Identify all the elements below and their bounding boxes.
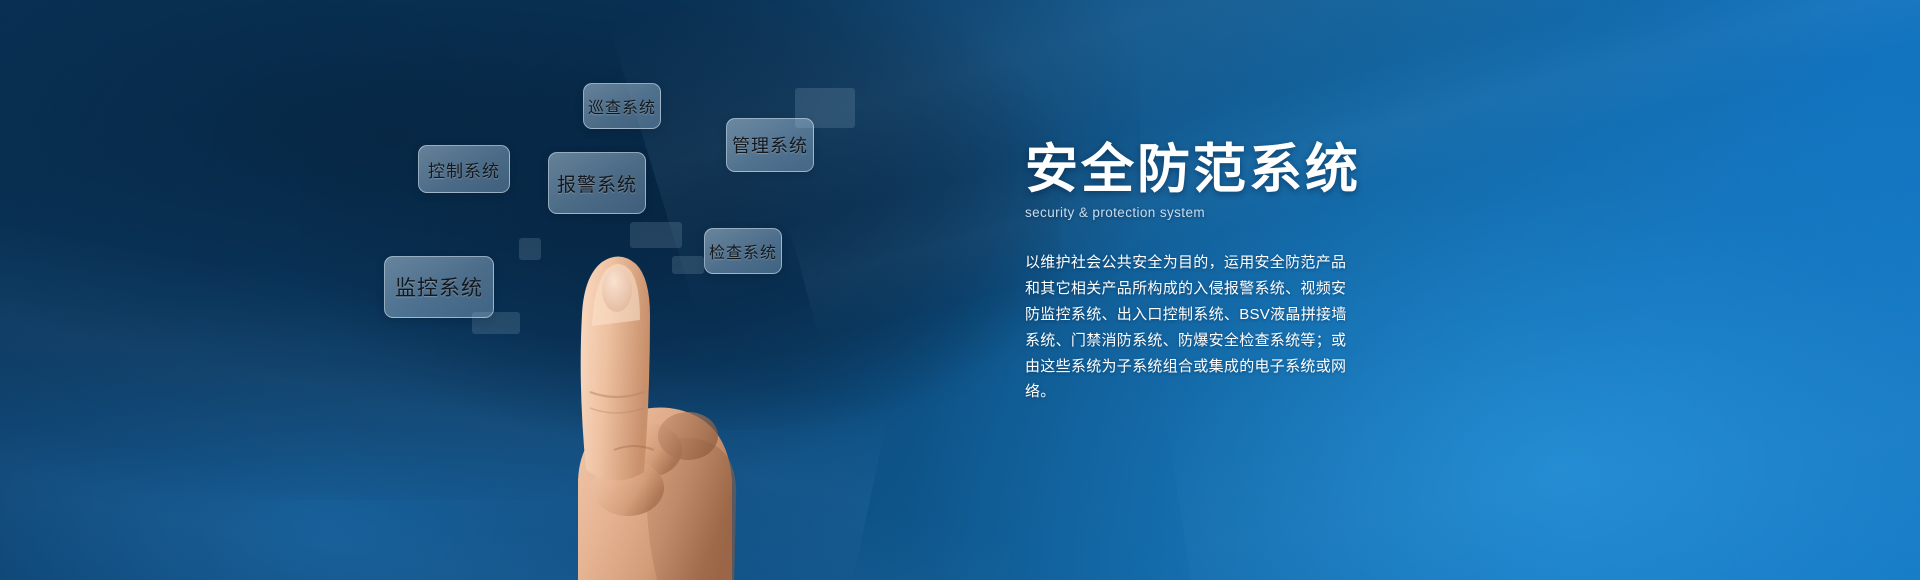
page-title: 安全防范系统 [1025, 140, 1785, 199]
background-core-shadow [300, 0, 1060, 430]
decorative-square [519, 238, 541, 260]
system-tile-label: 检查系统 [709, 239, 777, 263]
system-tile[interactable]: 控制系统 [418, 145, 510, 193]
decorative-square [630, 222, 682, 248]
system-tile-label: 监控系统 [395, 272, 483, 302]
system-tile[interactable]: 报警系统 [548, 152, 646, 214]
hero-banner: 巡查系统控制系统报警系统管理系统检查系统监控系统 [0, 0, 1920, 580]
system-tile-label: 巡查系统 [588, 94, 656, 118]
system-tile-label: 管理系统 [732, 132, 808, 158]
system-tile[interactable]: 管理系统 [726, 118, 814, 172]
background-vignette [0, 0, 1140, 500]
system-tile-label: 控制系统 [428, 157, 500, 182]
hero-copy-block: 安全防范系统 security & protection system 以维护社… [1025, 140, 1785, 405]
decorative-square [672, 256, 704, 274]
pointing-hand-illustration [520, 150, 810, 580]
page-subtitle: security & protection system [1025, 205, 1785, 220]
page-description: 以维护社会公共安全为目的，运用安全防范产品和其它相关产品所构成的入侵报警系统、视… [1025, 250, 1355, 405]
system-tile-label: 报警系统 [557, 170, 637, 197]
system-tile[interactable]: 巡查系统 [583, 83, 661, 129]
system-tile[interactable]: 监控系统 [384, 256, 494, 318]
system-tile[interactable]: 检查系统 [704, 228, 782, 274]
light-streak [0, 328, 1013, 580]
